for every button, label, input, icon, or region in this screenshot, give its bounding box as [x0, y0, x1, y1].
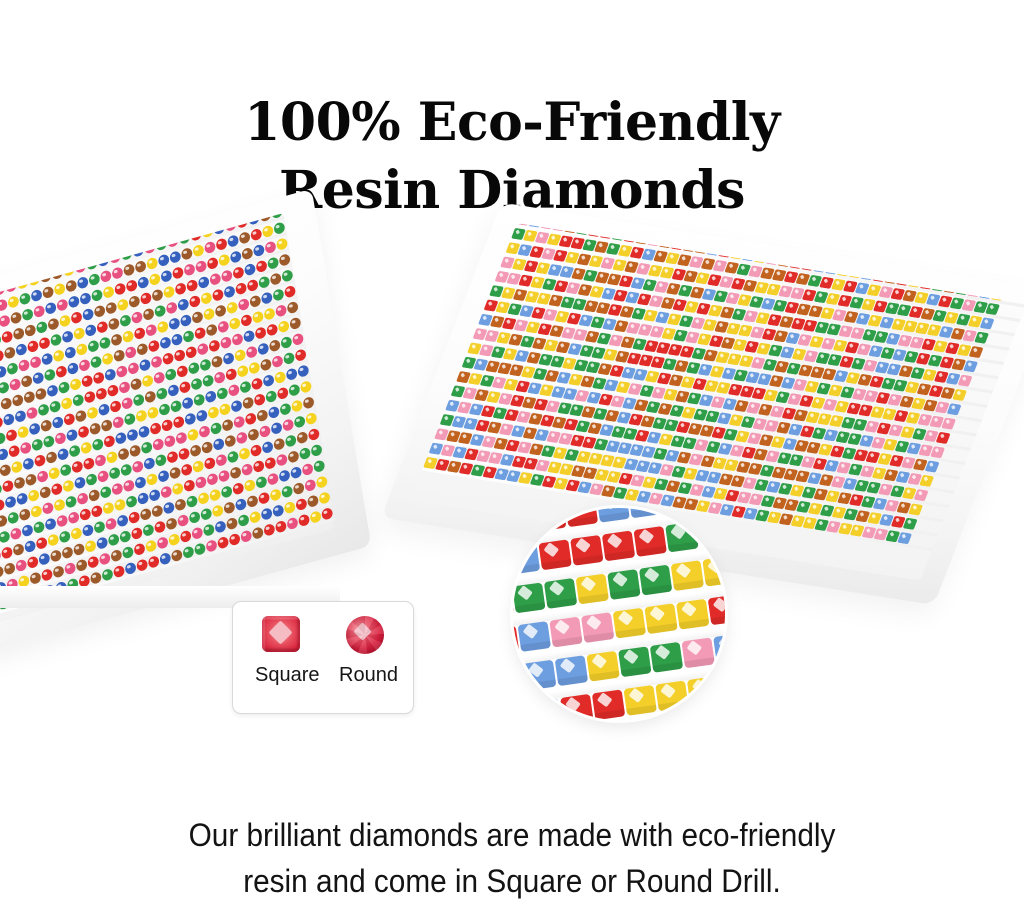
legend-item-round[interactable] [339, 616, 391, 654]
round-drill-grid [0, 213, 336, 641]
legend-icons [233, 616, 413, 654]
page-title-line-1: 100% Eco-Friendly [244, 92, 780, 153]
legend-label-round: Round [339, 664, 391, 687]
zoom-inset-content [513, 508, 725, 720]
legend-label-square: Square [255, 664, 307, 687]
caption-line-2: resin and come in Square or Round Drill. [36, 858, 988, 904]
drill-type-legend[interactable]: Square Round [232, 601, 414, 714]
caption-line-1: Our brilliant diamonds are made with eco… [36, 812, 988, 858]
square-gem-icon [262, 616, 300, 652]
tray-inner-left [0, 213, 336, 641]
caption: Our brilliant diamonds are made with eco… [36, 812, 988, 904]
zoom-inset-circle [513, 508, 725, 720]
legend-item-square[interactable] [255, 616, 307, 654]
poster-canvas: 100% Eco-Friendly Resin Diamonds [0, 0, 1024, 923]
legend-labels: Square Round [233, 664, 413, 687]
round-gem-icon [346, 616, 384, 654]
